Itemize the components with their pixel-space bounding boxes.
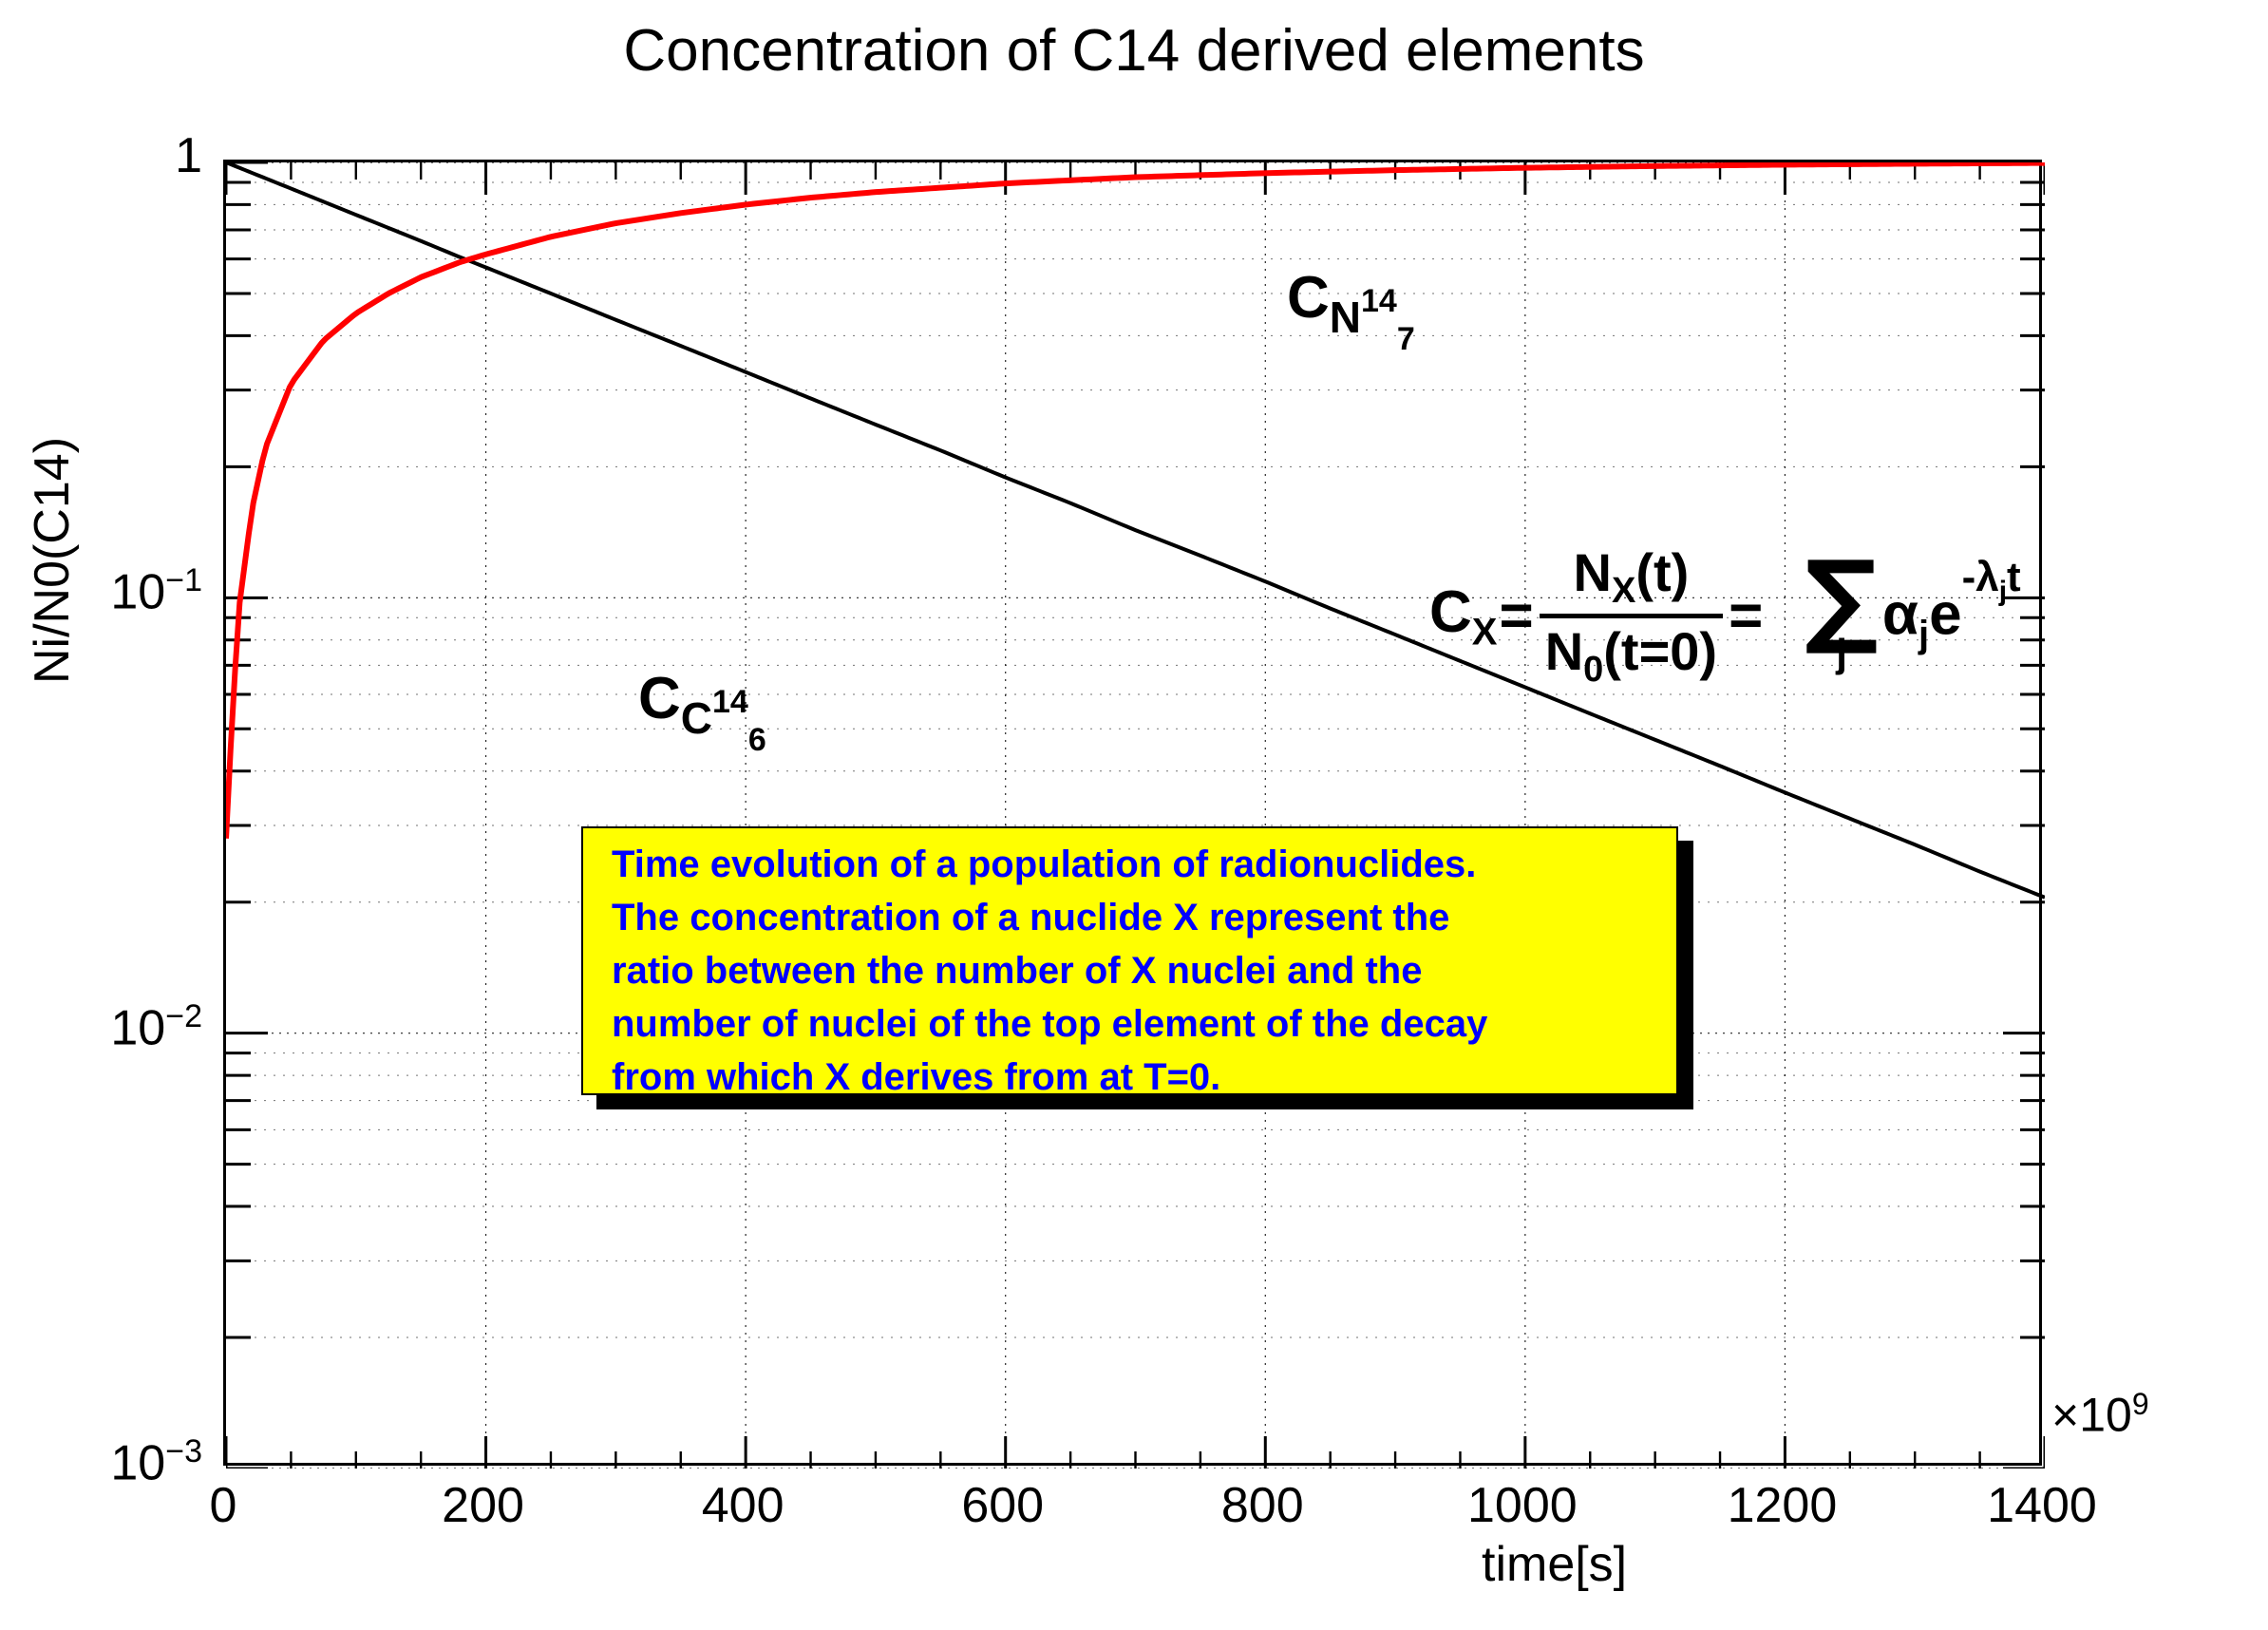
page-title: Concentration of C14 derived elements xyxy=(0,17,2268,85)
axis-ticks xyxy=(226,162,2045,1469)
x-tick-label-7: 1400 xyxy=(1937,1477,2146,1534)
x-axis-multiplier: ×109 xyxy=(2051,1387,2149,1443)
plot-frame xyxy=(223,160,2042,1466)
annotation-nitrogen-base: C xyxy=(1287,265,1330,331)
formula-exp-lambda: λ xyxy=(1975,554,1998,600)
grid-lines xyxy=(226,162,2045,1469)
y-tick-label-2: 10−2 xyxy=(0,998,202,1056)
formula-exp-lambda-sub: j xyxy=(1999,575,2007,606)
formula-equals-1: = xyxy=(1499,582,1533,650)
formula-numerator: NX(t) xyxy=(1568,541,1695,612)
annotation-carbon-sub: C146 xyxy=(681,693,766,743)
y-tick-exponent: −3 xyxy=(165,1433,202,1469)
annotation-carbon-z: 6 xyxy=(748,722,766,758)
formula-c: C xyxy=(1429,579,1472,645)
annotation-nitrogen-mass: 14 xyxy=(1361,283,1397,319)
y-tick-exponent: −1 xyxy=(165,562,202,598)
annotation-carbon-base: C xyxy=(638,666,681,731)
formula-sum-index: j xyxy=(1836,634,1847,673)
x-tick-label-1: 200 xyxy=(379,1477,588,1534)
note-line: The concentration of a nuclide X represe… xyxy=(612,899,1648,937)
y-axis-title: Ni/N0(C14) xyxy=(24,342,81,779)
annotation-nitrogen-element: N xyxy=(1330,293,1361,342)
formula-num-n: N xyxy=(1574,542,1612,602)
formula-exp-t: t xyxy=(2007,554,2021,600)
note-line: Time evolution of a population of radion… xyxy=(612,845,1648,883)
x-axis-title: time[s] xyxy=(1482,1536,1627,1593)
formula-den-rest: (t=0) xyxy=(1603,621,1717,681)
formula-exponent: -λjt xyxy=(1962,554,2021,600)
x-tick-label-3: 600 xyxy=(898,1477,1107,1534)
x-tick-label-5: 1000 xyxy=(1418,1477,1627,1534)
annotation-nitrogen: CN147 xyxy=(1287,264,1415,335)
formula-denominator: N0(t=0) xyxy=(1540,620,1723,691)
annotation-nitrogen-z: 7 xyxy=(1397,321,1415,357)
formula-den-sub: 0 xyxy=(1583,650,1603,690)
formula-alpha-sub: j xyxy=(1918,614,1929,655)
series-line-nitrogen xyxy=(226,163,2045,839)
x-tick-label-2: 400 xyxy=(638,1477,847,1534)
annotation-nitrogen-sub: N147 xyxy=(1330,293,1415,342)
plot-canvas: Concentration of C14 derived elements 11… xyxy=(0,0,2268,1630)
formula-term: αje-λjt xyxy=(1882,577,2021,656)
plot-area xyxy=(226,162,2045,1469)
formula-summation: ∑ j xyxy=(1805,559,1879,673)
x-multiplier-base: ×10 xyxy=(2051,1389,2132,1442)
formula-annotation: CX = NX(t) N0(t=0) = ∑ j αje-λjt xyxy=(1429,541,2021,691)
series-line-carbon xyxy=(226,162,2045,898)
y-tick-label-0: 1 xyxy=(0,127,202,184)
note-line: from which X derives from at T=0. xyxy=(612,1058,1648,1096)
y-tick-base: 10 xyxy=(110,565,165,620)
formula-fraction: NX(t) N0(t=0) xyxy=(1540,541,1723,691)
formula-exp-sign: - xyxy=(1962,554,1976,600)
formula-alpha: α xyxy=(1882,581,1918,647)
annotation-carbon-mass: 14 xyxy=(712,684,748,720)
formula-e: e xyxy=(1929,581,1961,647)
formula-num-rest: (t) xyxy=(1635,542,1689,602)
x-tick-label-0: 0 xyxy=(119,1477,328,1534)
formula-num-sub: X xyxy=(1612,571,1635,611)
note-line: ratio between the number of X nuclei and… xyxy=(612,952,1648,990)
formula-fraction-bar xyxy=(1540,614,1723,618)
x-multiplier-exponent: 9 xyxy=(2132,1387,2149,1421)
y-tick-base: 10 xyxy=(110,1000,165,1055)
x-tick-label-6: 1200 xyxy=(1677,1477,1886,1534)
formula-c-sub: X xyxy=(1472,611,1498,653)
sigma-icon: ∑ xyxy=(1805,559,1879,639)
formula-equals-2: = xyxy=(1729,582,1763,650)
formula-den-n: N xyxy=(1545,621,1583,681)
x-tick-label-4: 800 xyxy=(1158,1477,1367,1534)
y-tick-exponent: −2 xyxy=(165,998,202,1034)
note-box: Time evolution of a population of radion… xyxy=(581,826,1678,1095)
annotation-carbon-element: C xyxy=(681,693,712,743)
formula-cx: CX xyxy=(1429,578,1497,654)
annotation-carbon: CC146 xyxy=(638,665,766,736)
note-line: number of nuclei of the top element of t… xyxy=(612,1005,1648,1043)
